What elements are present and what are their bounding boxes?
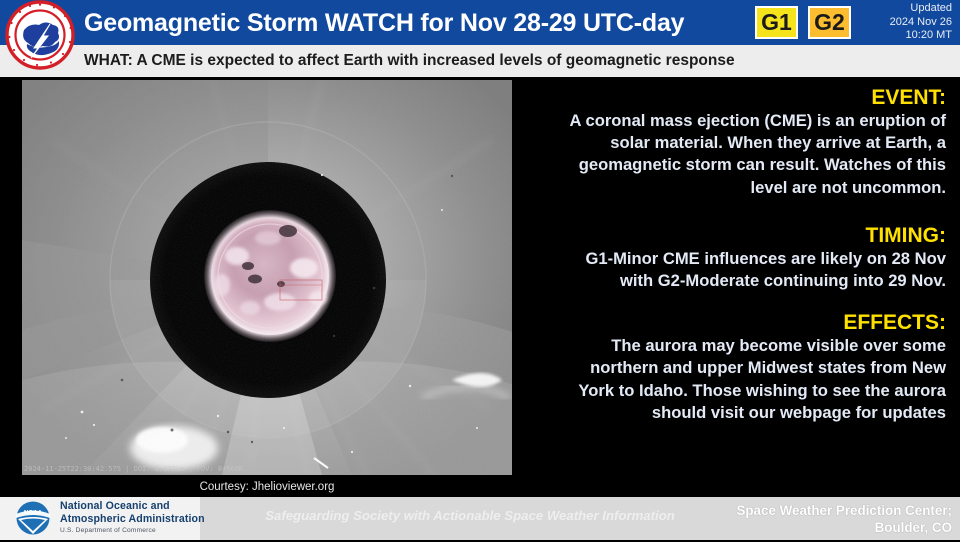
svg-text:NOAA: NOAA [24,510,43,517]
nws-seal-icon [4,0,76,70]
footer-bar: NOAA National Oceanic and Atmospheric Ad… [0,497,960,540]
noaa-line-1: National Oceanic and [60,500,205,513]
updated-time: 10:20 MT [866,29,952,43]
section-event: EVENT: A coronal mass ejection (CME) is … [556,85,946,199]
footer-tagline: Safeguarding Society with Actionable Spa… [250,508,690,523]
g2-badge-label: G2 [814,11,845,34]
g2-scale-badge[interactable]: G2 [808,6,851,39]
g1-scale-badge[interactable]: G1 [755,6,798,39]
updated-timestamp: Updated 2024 Nov 26 10:20 MT [866,2,952,43]
what-summary-text: WHAT: A CME is expected to affect Earth … [84,45,950,77]
section-timing-heading: TIMING: [556,223,946,248]
section-timing-body: G1-Minor CME influences are likely on 28… [556,248,946,292]
noaa-agency-name: National Oceanic and Atmospheric Adminis… [60,500,205,536]
section-effects-heading: EFFECTS: [556,310,946,335]
noaa-line-2: Atmospheric Administration [60,513,205,526]
section-effects-body: The aurora may become visible over some … [556,335,946,424]
swpc-line-2: Boulder, CO [652,520,952,537]
image-credit: Courtesy: Jhelioviewer.org [22,481,512,493]
section-event-body: A coronal mass ejection (CME) is an erup… [556,110,946,199]
swpc-attribution: Space Weather Prediction Center; Boulder… [652,503,952,536]
g1-badge-label: G1 [761,11,792,34]
alert-details-column: EVENT: A coronal mass ejection (CME) is … [556,77,946,495]
swpc-line-1: Space Weather Prediction Center; [652,503,952,520]
image-overlay-timestamp: 2024-11-25T22:30:42.575 | DOI: 0.977Lm |… [24,465,243,473]
section-event-heading: EVENT: [556,85,946,110]
updated-date: 2024 Nov 26 [866,16,952,30]
coronagraph-image[interactable]: 2024-11-25T22:30:42.575 | DOI: 0.977Lm |… [22,80,512,475]
noaa-seagull-icon: NOAA [12,501,54,537]
page-title: Geomagnetic Storm WATCH for Nov 28-29 UT… [84,4,744,42]
section-effects: EFFECTS: The aurora may become visible o… [556,310,946,424]
main-content: 2024-11-25T22:30:42.575 | DOI: 0.977Lm |… [0,77,960,497]
updated-label: Updated [866,2,952,16]
noaa-line-3: U.S. Department of Commerce [60,526,205,536]
section-timing: TIMING: G1-Minor CME influences are like… [556,223,946,292]
header-bar: Geomagnetic Storm WATCH for Nov 28-29 UT… [0,0,960,45]
what-summary-bar: WHAT: A CME is expected to affect Earth … [0,45,960,77]
